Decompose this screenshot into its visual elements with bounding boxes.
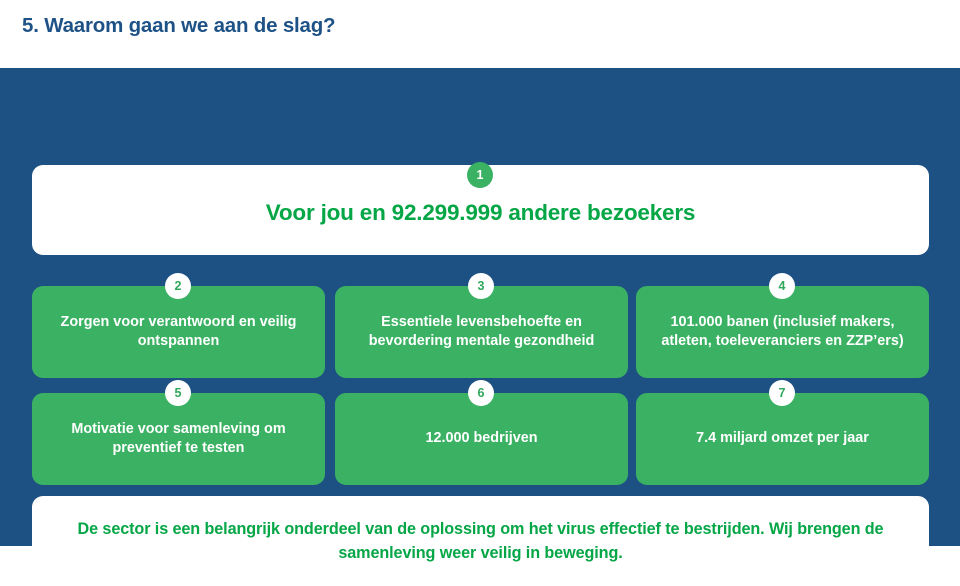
badge-5: 5 [165,380,191,406]
benefit-card-5: Motivatie voor samenleving om preventief… [32,393,325,485]
benefit-card-7-text: 7.4 miljard omzet per jaar [682,429,883,448]
benefit-card-4: 101.000 banen (inclusief makers, atleten… [636,286,929,378]
badge-7: 7 [769,380,795,406]
benefit-card-3-text: Essentiele levensbehoefte en bevordering… [335,313,628,351]
badge-6: 6 [468,380,494,406]
badge-3: 3 [468,273,494,299]
benefit-card-6: 12.000 bedrijven [335,393,628,485]
content-panel: Voor jou en 92.299.999 andere bezoekers … [0,68,960,546]
benefit-card-6-text: 12.000 bedrijven [412,429,552,448]
badge-2: 2 [165,273,191,299]
benefit-card-4-text: 101.000 banen (inclusief makers, atleten… [636,313,929,351]
badge-4: 4 [769,273,795,299]
benefit-card-3: Essentiele levensbehoefte en bevordering… [335,286,628,378]
footer-card-text: De sector is een belangrijk onderdeel va… [32,517,929,566]
benefit-card-2-text: Zorgen voor verantwoord en veilig ontspa… [32,313,325,351]
slide-root: 5. Waarom gaan we aan de slag? Voor jou … [0,0,960,546]
page-title: 5. Waarom gaan we aan de slag? [22,14,922,39]
benefit-card-2: Zorgen voor verantwoord en veilig ontspa… [32,286,325,378]
hero-card-text: Voor jou en 92.299.999 andere bezoekers [252,198,710,228]
badge-1: 1 [467,162,493,188]
benefit-card-5-text: Motivatie voor samenleving om preventief… [32,420,325,458]
footer-card: De sector is een belangrijk onderdeel va… [32,496,929,586]
benefit-card-7: 7.4 miljard omzet per jaar [636,393,929,485]
